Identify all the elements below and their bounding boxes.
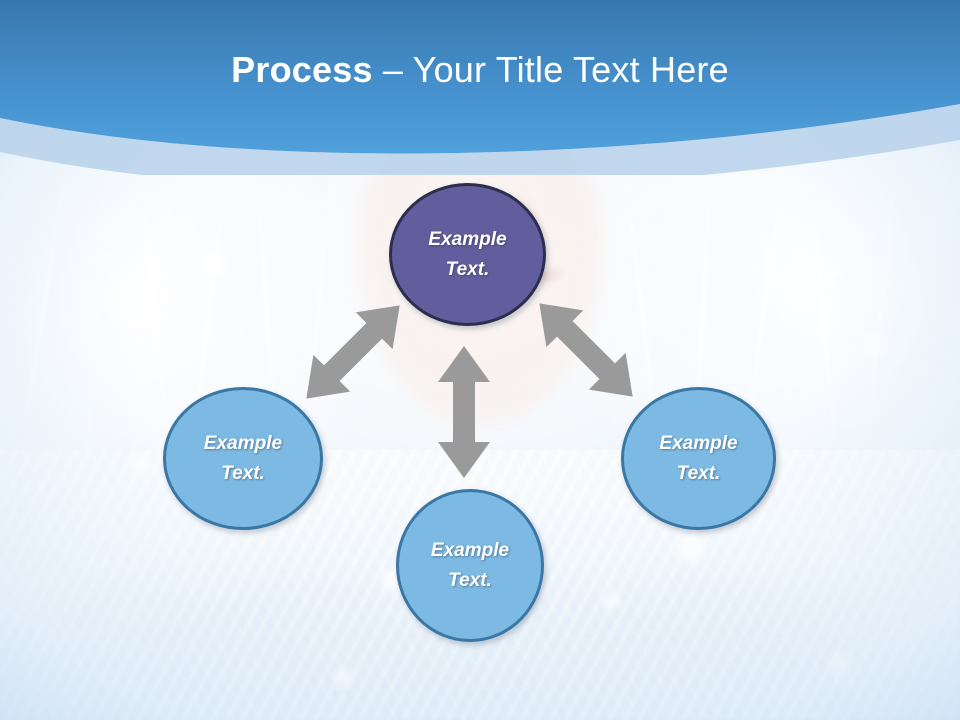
connector-top-bottom[interactable] xyxy=(438,346,490,478)
node-top-line2: Text. xyxy=(446,255,490,285)
node-left[interactable]: Example Text. xyxy=(163,387,323,530)
node-right[interactable]: Example Text. xyxy=(621,387,776,530)
connector-top-right[interactable] xyxy=(521,285,651,415)
connector-top-left[interactable] xyxy=(288,287,418,417)
node-left-line2: Text. xyxy=(221,459,265,489)
node-top[interactable]: Example Text. xyxy=(389,183,546,326)
slide-canvas: Process – Your Title Text Here Example T… xyxy=(0,0,960,720)
node-top-line1: Example xyxy=(428,225,506,255)
node-right-line1: Example xyxy=(659,429,737,459)
node-bottom[interactable]: Example Text. xyxy=(396,489,544,642)
node-bottom-line2: Text. xyxy=(448,566,492,596)
node-right-line2: Text. xyxy=(677,459,721,489)
node-bottom-line1: Example xyxy=(431,536,509,566)
process-diagram: Example Text. Example Text. Example Text… xyxy=(0,0,960,720)
node-left-line1: Example xyxy=(204,429,282,459)
